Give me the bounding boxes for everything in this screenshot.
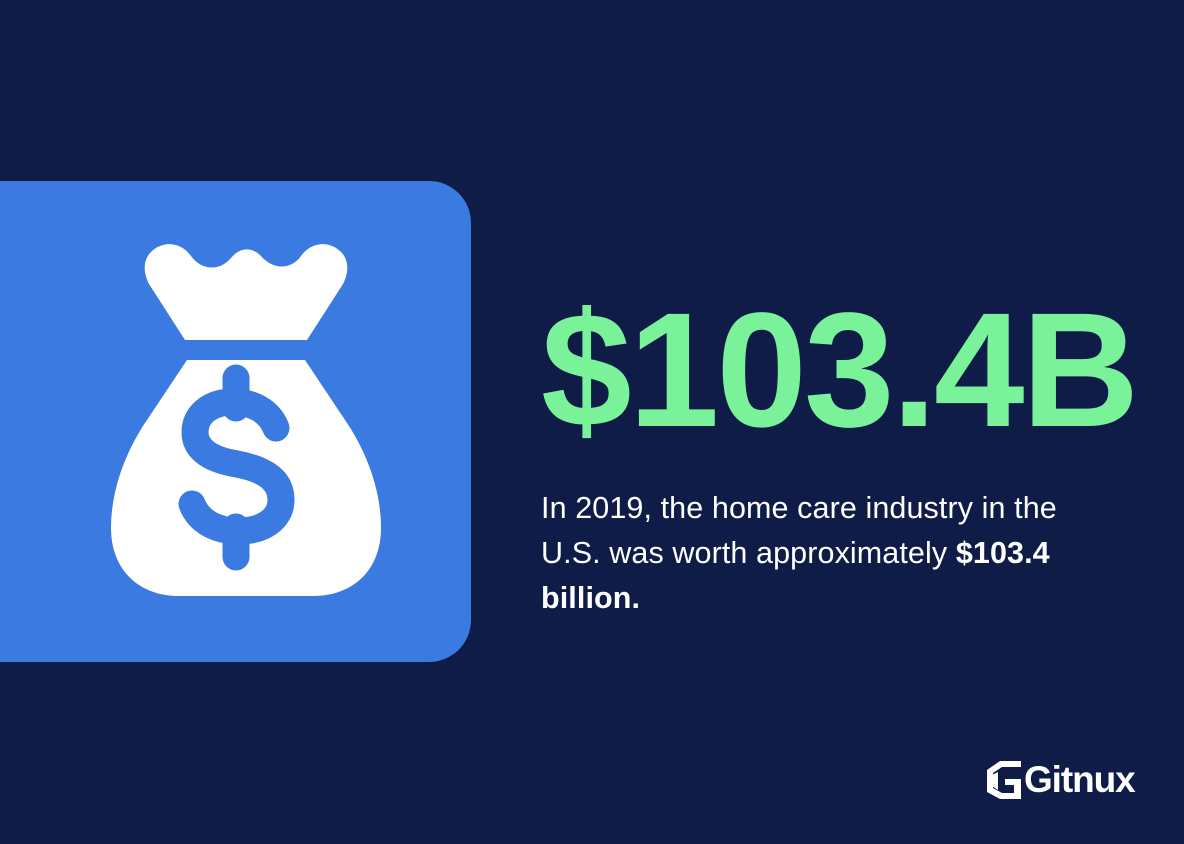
icon-card	[0, 181, 471, 662]
stat-value: $103.4B	[541, 300, 1116, 440]
infographic-canvas: $103.4B In 2019, the home care industry …	[0, 0, 1184, 844]
stat-description: In 2019, the home care industry in the U…	[541, 440, 1116, 621]
money-bag-glyph	[91, 232, 381, 612]
brand-logo: Gitnux	[987, 760, 1135, 800]
money-bag-icon	[0, 181, 471, 662]
gitnux-g-mark-icon	[987, 761, 1022, 799]
brand-name: Gitnux	[1024, 761, 1135, 799]
stat-content: $103.4B In 2019, the home care industry …	[541, 300, 1116, 622]
